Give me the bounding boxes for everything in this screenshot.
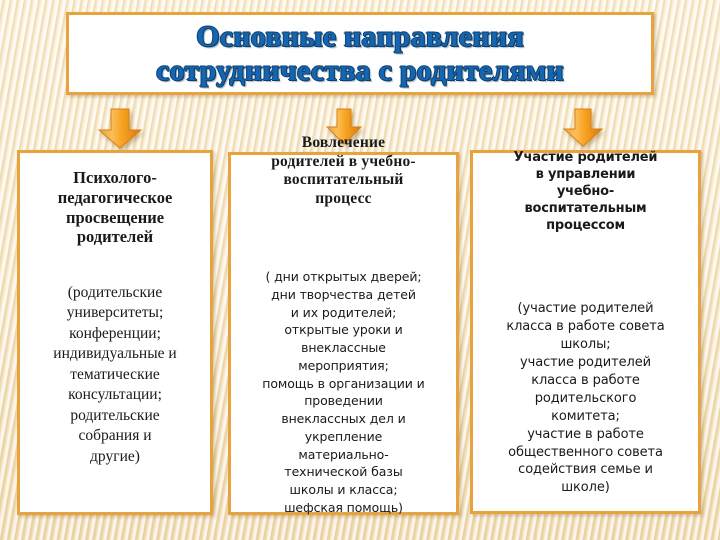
arrow-down-icon	[97, 108, 143, 150]
column-3-heading: Участие родителей в управлении учебно- в…	[470, 150, 701, 234]
arrow-down-icon	[562, 108, 604, 148]
column-2-heading: Вовлечение родителей в учебно- воспитате…	[228, 134, 459, 208]
page-title: Основные направления сотрудничества с ро…	[152, 20, 568, 87]
column-3-body: (участие родителей класса в работе совет…	[472, 300, 699, 497]
column-1-heading: Психолого- педагогическое просвещение ро…	[17, 168, 213, 247]
column-1-body: (родительские университеты; конференции;…	[19, 283, 211, 467]
slide-title-box: Основные направления сотрудничества с ро…	[66, 12, 654, 95]
column-2-body: ( дни открытых дверей; дни творчества де…	[230, 268, 457, 517]
slide-canvas: Основные направления сотрудничества с ро…	[0, 0, 720, 540]
